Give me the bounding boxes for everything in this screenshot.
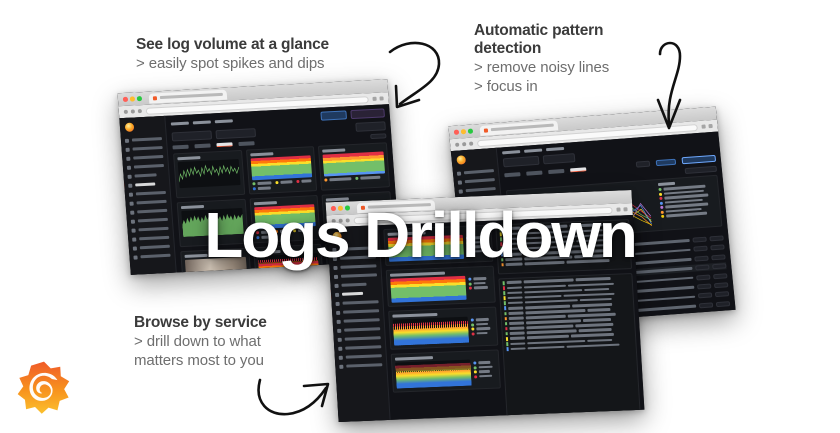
chart-line[interactable]	[178, 159, 240, 188]
time-range-picker[interactable]	[350, 108, 385, 119]
open-in-explore-button[interactable]	[685, 166, 718, 174]
panel-stacked-area-1[interactable]	[246, 146, 318, 194]
time-range-picker[interactable]	[682, 155, 717, 164]
logs-icon	[335, 292, 339, 296]
datasource-picker[interactable]	[320, 110, 347, 120]
chart-stacked-area[interactable]	[388, 235, 464, 262]
close-icon[interactable]	[123, 97, 128, 102]
reload-icon[interactable]	[469, 142, 473, 146]
forward-icon[interactable]	[339, 219, 343, 223]
chart-legend	[658, 179, 718, 227]
reload-icon[interactable]	[138, 109, 142, 113]
profiles-icon	[335, 301, 339, 305]
star-icon	[125, 147, 129, 151]
include-button[interactable]	[697, 283, 711, 289]
exclude-button[interactable]	[715, 291, 729, 297]
tab-title	[490, 124, 553, 132]
browser-icon	[338, 346, 342, 350]
breadcrumb-patterns[interactable]	[546, 147, 564, 151]
panel-stacked-area-2[interactable]	[318, 142, 390, 190]
annotation-line: matters most to you	[134, 351, 319, 370]
back-icon[interactable]	[455, 143, 459, 147]
grafana-logo-icon[interactable]	[125, 122, 135, 131]
chart-legend	[471, 318, 494, 343]
tab-fields[interactable]	[548, 169, 564, 174]
exclude-button[interactable]	[710, 245, 724, 251]
metrics-icon	[334, 283, 338, 287]
annotation-heading: Automatic pattern detection	[474, 22, 664, 58]
dashboard-icon	[333, 265, 337, 269]
service-chart-column	[383, 225, 504, 422]
metrics-icon	[127, 174, 131, 178]
breadcrumb-explore[interactable]	[524, 148, 542, 152]
chart-stacked-area[interactable]	[250, 155, 312, 180]
back-icon[interactable]	[332, 219, 336, 223]
grafana-logo-icon[interactable]	[456, 155, 466, 165]
panel-stacked-area-3[interactable]	[249, 195, 321, 243]
back-icon[interactable]	[124, 110, 128, 114]
chart-stacked-area[interactable]	[393, 317, 469, 346]
chart-stacked-area[interactable]	[323, 151, 385, 176]
favicon-icon	[360, 205, 364, 209]
window-traffic-lights[interactable]	[123, 96, 142, 101]
open-in-explore-button[interactable]	[355, 121, 386, 132]
include-button[interactable]	[694, 255, 708, 261]
extension-icon[interactable]	[701, 124, 705, 128]
sparkline-icon	[178, 159, 240, 188]
flask-icon	[337, 319, 341, 323]
grafana-app	[327, 215, 644, 422]
compass-icon	[127, 165, 131, 169]
apps-icon	[338, 337, 342, 341]
chart-heatmap[interactable]	[185, 257, 247, 275]
favicon-icon	[152, 96, 156, 100]
annotation-line: > drill down to what	[134, 332, 319, 351]
home-icon	[125, 138, 129, 142]
extension-icon[interactable]	[372, 97, 376, 101]
bell-icon	[336, 310, 340, 314]
panel-service-1[interactable]	[383, 225, 493, 266]
flask-icon	[130, 210, 134, 214]
sidebar-item-administration[interactable]	[335, 360, 387, 371]
annotation-heading: Browse by service	[134, 314, 319, 332]
panel-service-3[interactable]	[388, 307, 498, 350]
annotation-log-volume: See log volume at a glance > easily spot…	[136, 36, 329, 73]
browser-tab[interactable]	[356, 199, 435, 212]
profile-icon[interactable]	[708, 124, 712, 128]
breadcrumb-home[interactable]	[171, 122, 189, 126]
window-traffic-lights[interactable]	[454, 129, 473, 135]
maximize-icon[interactable]	[345, 206, 350, 211]
tab-logs[interactable]	[172, 145, 188, 150]
star-icon	[458, 180, 462, 184]
annotation-heading: See log volume at a glance	[136, 36, 329, 54]
tab-fields[interactable]	[216, 142, 232, 147]
chart-stacked-area[interactable]	[395, 360, 471, 389]
nav-buttons[interactable]	[455, 142, 473, 147]
include-button[interactable]	[696, 274, 710, 280]
panel-title	[322, 148, 345, 152]
include-button[interactable]	[698, 293, 712, 299]
exclude-button[interactable]	[714, 282, 728, 288]
panel-timeseries-green-2[interactable]	[177, 199, 249, 247]
tab-patterns[interactable]	[238, 141, 254, 146]
logs-icon	[128, 183, 132, 187]
tab-patterns[interactable]	[570, 167, 586, 172]
browser-extensions[interactable]	[701, 124, 712, 129]
panel-title	[387, 231, 425, 236]
service-select[interactable]	[503, 156, 540, 168]
label-select[interactable]	[215, 128, 256, 139]
breadcrumb-logs[interactable]	[215, 119, 233, 123]
annotation-line: > easily spot spikes and dips	[136, 54, 329, 73]
panel-log-lines-2[interactable]	[498, 273, 641, 422]
exclude-button[interactable]	[711, 254, 725, 260]
browser-tab[interactable]	[148, 89, 227, 103]
grafana-content	[379, 215, 644, 422]
shield-icon	[133, 255, 137, 259]
tab-labels[interactable]	[194, 144, 210, 149]
curved-arrow-down-icon	[650, 38, 690, 132]
bell-icon	[129, 201, 133, 205]
grafana-logo-icon[interactable]	[332, 232, 342, 241]
breadcrumb-explore[interactable]	[193, 120, 211, 124]
panel-spiky-rainbow-1[interactable]	[253, 244, 324, 275]
chart-stacked-area[interactable]	[390, 276, 466, 303]
star-icon	[333, 256, 337, 260]
plug-icon	[133, 246, 137, 250]
chart-legend	[473, 361, 496, 386]
profiles-icon	[129, 192, 133, 196]
annotation-browse-by-service: Browse by service > drill down to what m…	[134, 314, 319, 370]
chart-legend	[256, 228, 317, 239]
panel-title	[253, 201, 276, 205]
extension-icon[interactable]	[616, 208, 620, 212]
shield-icon	[339, 364, 343, 368]
close-icon[interactable]	[331, 206, 336, 211]
dashboard-icon	[459, 189, 463, 193]
grafana-logo-icon[interactable]	[16, 360, 72, 416]
tab-title	[159, 93, 222, 99]
browser-extensions[interactable]	[372, 96, 383, 101]
chart-legend	[325, 175, 386, 181]
forward-icon[interactable]	[131, 109, 135, 113]
layout-toggle[interactable]	[370, 133, 386, 139]
chart-legend	[466, 236, 489, 259]
compass-icon	[334, 274, 338, 278]
tab-title	[367, 203, 430, 209]
forward-icon[interactable]	[462, 142, 466, 146]
panel-timeseries-green-1[interactable]	[173, 150, 245, 198]
panel-title	[185, 254, 208, 258]
panel-title	[250, 152, 273, 156]
panel-service-2[interactable]	[386, 266, 496, 307]
panel-title	[395, 356, 433, 361]
chart-legend	[468, 277, 491, 300]
server-icon	[131, 219, 135, 223]
live-toggle[interactable]	[636, 161, 651, 168]
browser-icon	[132, 237, 136, 241]
minimize-icon[interactable]	[130, 97, 135, 102]
exclude-button[interactable]	[709, 235, 723, 241]
include-button[interactable]	[699, 302, 713, 308]
exclude-button[interactable]	[713, 273, 727, 279]
minimize-icon[interactable]	[338, 206, 343, 211]
apps-icon	[131, 228, 135, 232]
screenshot-service-browser[interactable]	[326, 190, 645, 422]
profile-icon[interactable]	[623, 207, 627, 211]
area-icon	[181, 208, 243, 237]
window-traffic-lights[interactable]	[331, 206, 350, 211]
annotation-line: > remove noisy lines	[474, 58, 664, 77]
minimize-icon[interactable]	[461, 129, 466, 134]
service-select[interactable]	[172, 130, 213, 141]
tab-logs[interactable]	[504, 172, 520, 177]
label-select[interactable]	[543, 153, 576, 164]
chart-legend	[252, 179, 313, 190]
home-icon	[332, 247, 336, 251]
exclude-button[interactable]	[716, 301, 730, 307]
plug-icon	[339, 355, 343, 359]
include-button[interactable]	[692, 237, 706, 243]
dashboard-icon	[126, 156, 130, 160]
tab-labels[interactable]	[526, 171, 542, 176]
panel-title	[392, 313, 437, 318]
maximize-icon[interactable]	[137, 96, 142, 101]
panel-title	[177, 156, 200, 160]
chart-area[interactable]	[181, 208, 243, 237]
sidebar-item-admin[interactable]	[129, 251, 175, 262]
panel-log-lines-1[interactable]	[495, 219, 632, 274]
annotation-pattern-detection: Automatic pattern detection > remove noi…	[474, 22, 664, 96]
close-icon[interactable]	[454, 130, 459, 135]
annotation-line: > focus in	[474, 77, 664, 96]
favicon-icon	[483, 128, 487, 132]
chart-stacked-area[interactable]	[254, 204, 316, 229]
browser-extensions[interactable]	[616, 207, 627, 211]
panel-title	[181, 205, 204, 209]
panel-title	[257, 250, 280, 254]
maximize-icon[interactable]	[468, 129, 473, 134]
curved-arrow-up-right-icon	[252, 372, 334, 426]
reload-icon[interactable]	[346, 218, 350, 222]
server-icon	[337, 328, 341, 332]
nav-buttons[interactable]	[124, 109, 142, 114]
include-button[interactable]	[695, 265, 709, 271]
log-lines-column	[495, 219, 641, 422]
nav-buttons[interactable]	[332, 218, 350, 223]
include-button[interactable]	[693, 246, 707, 252]
curved-arrow-down-left-icon	[384, 38, 446, 116]
exclude-button[interactable]	[712, 263, 726, 269]
panel-heatmap[interactable]	[180, 248, 251, 275]
datasource-picker[interactable]	[656, 159, 677, 166]
promo-banner: Logs Drilldown See log volume at a glanc…	[0, 0, 840, 433]
panel-service-4[interactable]	[391, 349, 501, 392]
chart-stacked-area[interactable]	[257, 253, 320, 275]
breadcrumb-home[interactable]	[502, 150, 520, 154]
home-icon	[457, 171, 461, 175]
